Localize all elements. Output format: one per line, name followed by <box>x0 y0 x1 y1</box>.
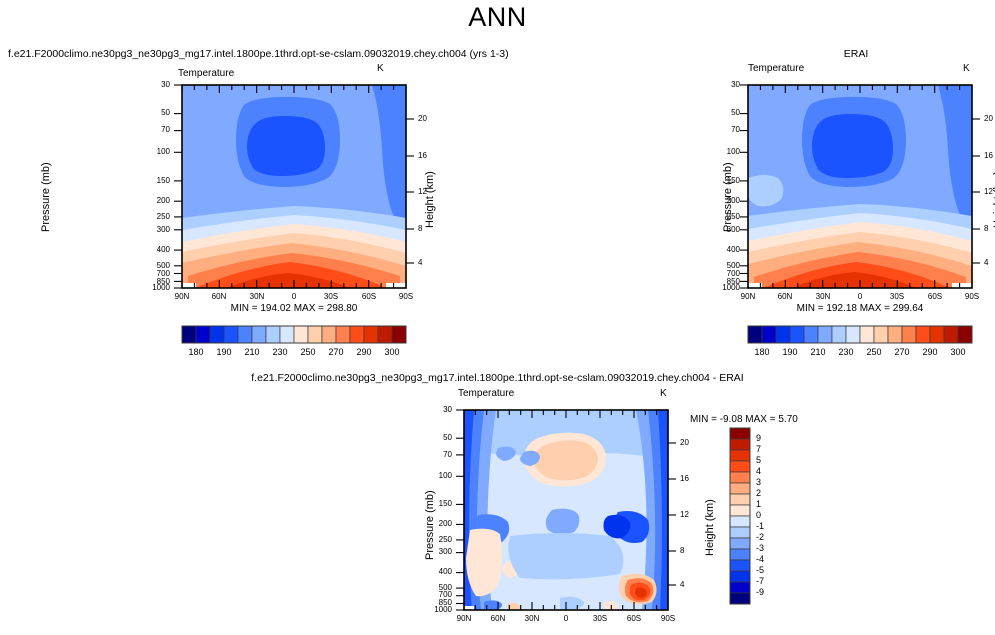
colorbar-swatch <box>730 538 750 549</box>
colorbar-swatch <box>958 326 972 343</box>
colorbar-tick-label: 270 <box>888 347 916 357</box>
colorbar-tick-label: -2 <box>756 532 776 542</box>
colorbar-swatch <box>730 505 750 516</box>
colorbar-swatch <box>804 326 818 343</box>
colorbar-tick-label: 0 <box>756 510 776 520</box>
colorbar-tick-label: -9 <box>756 587 776 597</box>
colorbar-tick-label: 5 <box>756 455 776 465</box>
colorbar-swatch <box>730 472 750 483</box>
colorbar-swatch <box>210 326 224 343</box>
difference-contour-fills <box>464 410 668 610</box>
colorbar-swatch <box>730 560 750 571</box>
colorbar-swatch <box>730 483 750 494</box>
colorbar-tick-label: 4 <box>756 466 776 476</box>
colorbar-swatch <box>730 516 750 527</box>
colorbar-swatch <box>888 326 902 343</box>
colorbar-swatch <box>874 326 888 343</box>
colorbar-tick-label: 180 <box>748 347 776 357</box>
colorbar-swatch <box>902 326 916 343</box>
difference-panel-plot <box>260 330 720 635</box>
colorbar-tick-label: 190 <box>210 347 238 357</box>
colorbar-swatch <box>730 494 750 505</box>
colorbar-swatch <box>916 326 930 343</box>
colorbar-swatch <box>238 326 252 343</box>
colorbar-tick-label: 180 <box>182 347 210 357</box>
colorbar-swatch <box>730 571 750 582</box>
colorbar-tick-label: 290 <box>916 347 944 357</box>
colorbar-tick-label: 210 <box>804 347 832 357</box>
colorbar-tick-label: 1 <box>756 499 776 509</box>
colorbar-tick-label: 250 <box>860 347 888 357</box>
colorbar-tick-label: 9 <box>756 433 776 443</box>
colorbar-swatch <box>776 326 790 343</box>
colorbar-swatch <box>730 428 750 439</box>
colorbar-swatch <box>790 326 804 343</box>
difference-colorbar <box>700 420 810 620</box>
reference-colorbar <box>560 0 995 360</box>
colorbar-swatch <box>944 326 958 343</box>
colorbar-swatch <box>730 450 750 461</box>
colorbar-tick-label: -5 <box>756 565 776 575</box>
colorbar-swatch <box>748 326 762 343</box>
colorbar-tick-label: 230 <box>832 347 860 357</box>
colorbar-tick-label: -1 <box>756 521 776 531</box>
test-colorbar <box>0 0 500 360</box>
colorbar-tick-label: 2 <box>756 488 776 498</box>
colorbar-swatch <box>730 527 750 538</box>
colorbar-swatch <box>182 326 196 343</box>
colorbar-swatch <box>730 593 750 604</box>
colorbar-tick-label: 190 <box>776 347 804 357</box>
colorbar-swatch <box>196 326 210 343</box>
colorbar-tick-label: 7 <box>756 444 776 454</box>
colorbar-swatch <box>730 461 750 472</box>
colorbar-tick-label: -4 <box>756 554 776 564</box>
colorbar-tick-label: 3 <box>756 477 776 487</box>
colorbar-swatch <box>224 326 238 343</box>
colorbar-tick-label: 300 <box>944 347 972 357</box>
colorbar-swatch <box>730 549 750 560</box>
colorbar-swatch <box>860 326 874 343</box>
colorbar-swatch <box>730 582 750 593</box>
colorbar-swatch <box>832 326 846 343</box>
colorbar-swatch <box>730 439 750 450</box>
colorbar-tick-label: -7 <box>756 576 776 586</box>
colorbar-tick-label: -3 <box>756 543 776 553</box>
colorbar-swatch <box>930 326 944 343</box>
colorbar-swatch <box>762 326 776 343</box>
colorbar-swatch <box>818 326 832 343</box>
colorbar-swatch <box>846 326 860 343</box>
